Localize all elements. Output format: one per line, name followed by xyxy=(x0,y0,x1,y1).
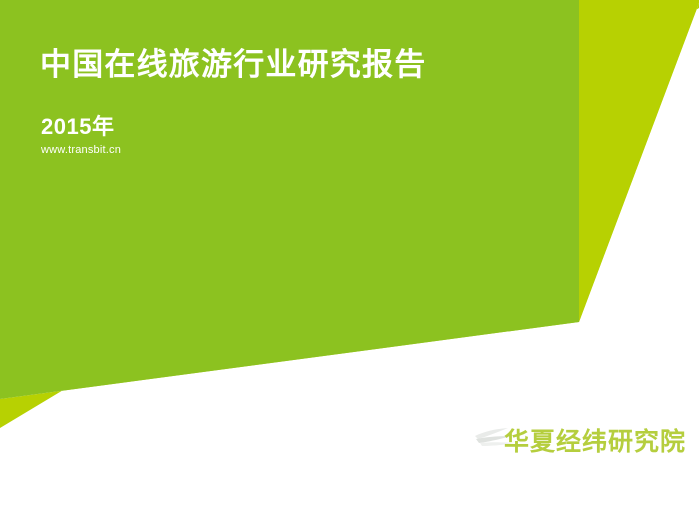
cover-slide: 中国在线旅游行业研究报告 2015年 www.transbit.cn 华夏经纬研… xyxy=(0,0,699,525)
slide-text-layer: 中国在线旅游行业研究报告 2015年 www.transbit.cn 华夏经纬研… xyxy=(0,0,699,525)
website-url: www.transbit.cn xyxy=(41,144,121,156)
organization-logo: 华夏经纬研究院 xyxy=(474,414,654,462)
report-year-subtitle: 2015年 xyxy=(41,109,114,141)
organization-name: 华夏经纬研究院 xyxy=(504,422,686,458)
page-title: 中国在线旅游行业研究报告 xyxy=(40,46,426,85)
